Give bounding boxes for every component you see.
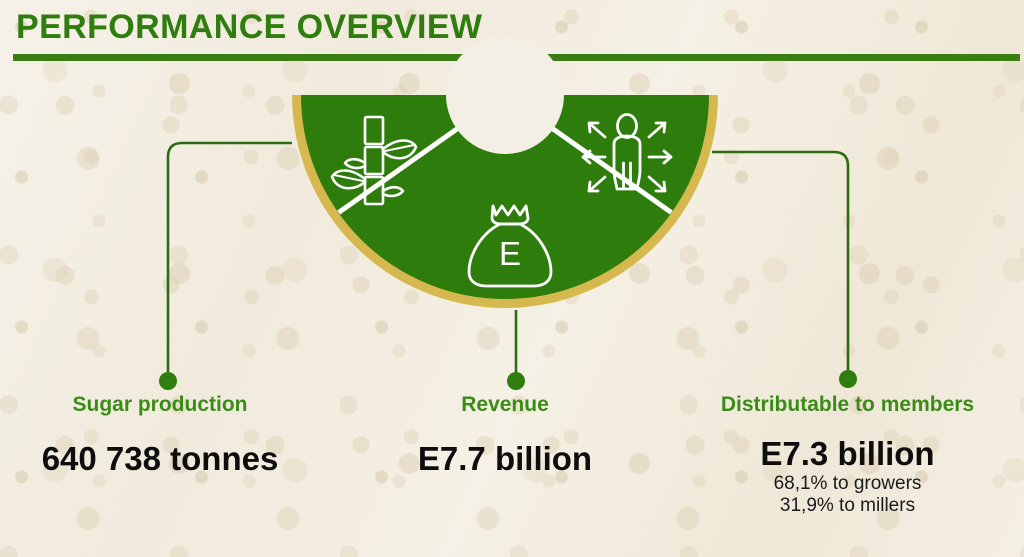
callout-revenue: Revenue E7.7 billion — [380, 393, 630, 478]
callout-label-sugar-production: Sugar production — [10, 393, 310, 416]
connector-dots — [159, 370, 857, 390]
connector-dot-revenue — [507, 372, 525, 390]
connector-dot-sugar — [159, 372, 177, 390]
callout-value-revenue: E7.7 billion — [380, 441, 630, 478]
callout-distributable-to-members: Distributable to members E7.3 billion 68… — [665, 393, 1024, 518]
connector-dot-distributable — [839, 370, 857, 388]
svg-text:E: E — [499, 235, 521, 272]
callout-value-distributable: E7.3 billion — [665, 436, 1024, 473]
callout-sub-millers: 31,9% to millers — [665, 495, 1024, 517]
callout-value-sugar-production: 640 738 tonnes — [10, 441, 310, 478]
callout-sugar-production: Sugar production 640 738 tonnes — [10, 393, 310, 478]
callout-label-distributable: Distributable to members — [665, 393, 1024, 416]
callout-sub-growers: 68,1% to growers — [665, 473, 1024, 495]
callout-label-revenue: Revenue — [380, 393, 630, 416]
connector-line-distributable — [712, 152, 848, 373]
donut-inner-cutout — [448, 38, 562, 152]
connector-line-sugar — [168, 143, 292, 375]
performance-half-donut-diagram: E — [0, 0, 1024, 420]
